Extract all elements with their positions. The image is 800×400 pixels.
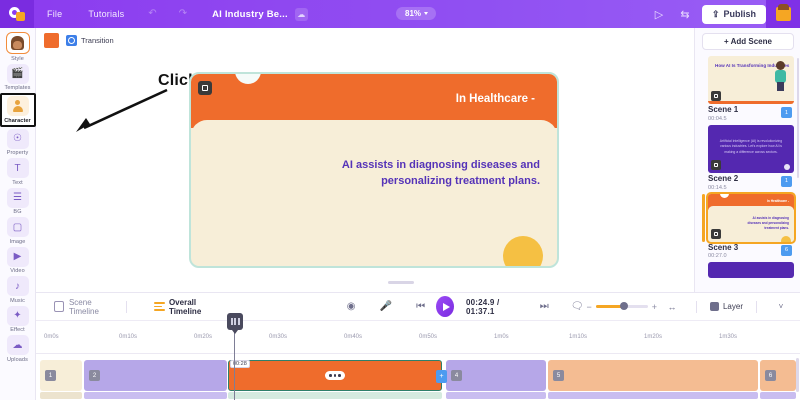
- scene-thumb-text: Artificial Intelligence (AI) is revoluti…: [717, 139, 785, 155]
- slide-canvas[interactable]: In Healthcare - AI assists in diagnosing…: [189, 72, 559, 268]
- audio-waveform: [228, 392, 442, 399]
- top-bar-actions: ▷ ⇆ ⇪ Publish: [646, 0, 800, 28]
- scene-thumb-title: In Healthcare -: [767, 199, 789, 203]
- divider: [696, 301, 697, 313]
- subtitle-icon[interactable]: 🗨: [568, 297, 587, 317]
- timeline-clip-selected[interactable]: 00:28 +: [228, 360, 442, 391]
- avatar[interactable]: [766, 0, 800, 28]
- layer-button[interactable]: Layer: [710, 302, 743, 311]
- slide-notch-decor: [235, 72, 261, 84]
- timeline-right-controls: − + ↔ Layer ˅: [586, 297, 792, 317]
- time-display: 00:24.9 / 01:37.1: [466, 298, 521, 316]
- property-icon: ☉: [7, 129, 29, 149]
- video-icon: ▶: [7, 247, 29, 267]
- play-button[interactable]: [436, 296, 454, 317]
- timeline-zoom-slider[interactable]: − +: [586, 302, 657, 312]
- skip-next-icon[interactable]: ⏭: [535, 297, 554, 317]
- character-icon: [7, 96, 29, 116]
- sidebar-item-label: Video: [10, 268, 24, 274]
- clip-number: 1: [45, 370, 56, 381]
- focus-icon[interactable]: ◉: [342, 297, 361, 317]
- clip-number: 2: [89, 370, 100, 381]
- scene-accent-circle: [781, 236, 791, 242]
- scene-thumb-text: AI assists in diagnosing diseases and pe…: [743, 216, 789, 231]
- slide-body-text: AI assists in diagnosing diseases and pe…: [310, 158, 540, 190]
- zoom-level-label: 81%: [405, 9, 421, 18]
- scene-timeline-icon: [54, 301, 64, 312]
- sidebar-item-label: Music: [10, 298, 25, 304]
- sidebar-item-character[interactable]: Character: [0, 93, 36, 127]
- scene-badge-count: 1: [781, 176, 792, 187]
- add-scene-button[interactable]: + Add Scene: [702, 33, 794, 50]
- microphone-icon[interactable]: 🎤: [377, 297, 396, 317]
- layer-icon: [710, 302, 719, 311]
- sidebar-item-label: Property: [7, 150, 29, 156]
- tab-scene-timeline[interactable]: Scene Timeline: [54, 298, 117, 316]
- sidebar-item-label: Templates: [5, 85, 31, 91]
- audio-waveform: [548, 392, 758, 399]
- tab-overall-timeline[interactable]: Overall Timeline: [154, 298, 224, 316]
- play-icon: [443, 303, 450, 311]
- ruler-tick: 0m50s: [419, 334, 437, 340]
- publish-button[interactable]: ⇪ Publish: [702, 5, 766, 24]
- sidebar-item-uploads[interactable]: ☁ Uploads: [0, 335, 36, 363]
- slide-title: In Healthcare -: [456, 93, 535, 105]
- timeline-clip[interactable]: 6: [760, 360, 796, 391]
- play-preview-icon[interactable]: ▷: [646, 0, 672, 28]
- scene-meta: Scene 1 00:04.5 1: [702, 104, 793, 122]
- overall-timeline-icon: [154, 302, 164, 311]
- sidebar-item-label: Uploads: [7, 357, 28, 363]
- sidebar-item-music[interactable]: ♪ Music: [0, 276, 36, 304]
- left-sidebar: Style 🎬 Templates Character ☉ Property T…: [0, 28, 36, 400]
- scene-duration: 00:27.0: [708, 253, 738, 259]
- skip-previous-icon[interactable]: ⏮: [411, 297, 430, 317]
- slide-accent-circle: [503, 236, 543, 268]
- zoom-out-icon[interactable]: −: [586, 302, 591, 312]
- sidebar-item-label: Text: [12, 180, 23, 186]
- handle-grip: [231, 318, 240, 325]
- ruler-tick: 1m0s: [494, 334, 509, 340]
- scene-card-3[interactable]: In Healthcare - AI assists in diagnosing…: [702, 194, 793, 260]
- sidebar-item-video[interactable]: ▶ Video: [0, 247, 36, 275]
- zoom-slider-knob[interactable]: [620, 302, 628, 310]
- tracks-scrollbar[interactable]: [796, 358, 799, 392]
- chevron-down-icon: [424, 12, 428, 15]
- top-bar: File Tutorials ↶ ↷ AI Industry Be... ☁ 8…: [0, 0, 800, 28]
- music-icon: ♪: [7, 276, 29, 296]
- select-frame-icon[interactable]: [711, 229, 721, 239]
- more-options-icon[interactable]: [325, 371, 345, 380]
- effect-icon: ✦: [7, 306, 29, 326]
- ruler-tick: 0m40s: [344, 334, 362, 340]
- transition-icon: [66, 35, 77, 46]
- publish-label: Publish: [723, 9, 756, 19]
- sidebar-item-effect[interactable]: ✦ Effect: [0, 306, 36, 334]
- ruler-tick: 1m20s: [644, 334, 662, 340]
- audio-waveform: [760, 392, 796, 399]
- chevron-down-icon[interactable]: ˅: [770, 297, 792, 317]
- audio-waveform: [446, 392, 546, 399]
- clip-number: 4: [451, 370, 462, 381]
- scene-card-1[interactable]: How AI Is Transforming Industries Scene …: [702, 56, 793, 122]
- transition-label: Transition: [81, 36, 114, 45]
- avatar-icon: [776, 7, 791, 21]
- scene-meta: Scene 3 00:27.0 6: [702, 242, 793, 260]
- app-root: File Tutorials ↶ ↷ AI Industry Be... ☁ 8…: [0, 0, 800, 400]
- scene-color-swatch: [44, 33, 59, 48]
- transition-bar: Transition: [44, 33, 114, 48]
- sidebar-item-style[interactable]: Style: [0, 32, 36, 62]
- clip-time-badge: 00:28: [230, 360, 250, 368]
- tab-label: Scene Timeline: [69, 298, 117, 316]
- clip-number: 6: [765, 370, 776, 381]
- audio-waveform: [84, 392, 227, 399]
- scene-duration: 00:14.5: [708, 185, 738, 191]
- sidebar-item-label: Image: [10, 239, 26, 245]
- scene-thumbnail-partial[interactable]: [708, 262, 794, 278]
- add-clip-icon[interactable]: +: [436, 370, 447, 383]
- ruler-tick: 0m0s: [44, 334, 59, 340]
- annotation-arrow: [72, 86, 172, 134]
- sidebar-item-label: Effect: [10, 327, 25, 333]
- scenes-panel: + Add Scene How AI Is Transforming Indus…: [694, 28, 800, 292]
- sidebar-item-bg[interactable]: ☰ BG: [0, 188, 36, 216]
- tab-label: Overall Timeline: [169, 298, 224, 316]
- select-frame-icon[interactable]: [711, 91, 721, 101]
- style-avatar-icon: [6, 32, 30, 54]
- timeline-tracks: 1 2 00:28 + 4 5 6: [36, 354, 800, 400]
- sidebar-item-property[interactable]: ☉ Property: [0, 129, 36, 157]
- clip-number: 5: [553, 370, 564, 381]
- sidebar-item-templates[interactable]: 🎬 Templates: [0, 64, 36, 92]
- timeline-clip[interactable]: 5: [548, 360, 758, 391]
- scene-accent-dot: [784, 164, 790, 170]
- undo-icon[interactable]: ↶: [137, 0, 167, 28]
- ruler-tick: 0m20s: [194, 334, 212, 340]
- scene-thumbnail[interactable]: Artificial Intelligence (AI) is revoluti…: [708, 125, 794, 173]
- character-illustration: [774, 61, 787, 91]
- scene-name: Scene 2: [708, 175, 738, 184]
- share-icon[interactable]: ⇆: [672, 0, 698, 28]
- select-frame-icon[interactable]: [198, 81, 212, 95]
- scene-thumbnail[interactable]: In Healthcare - AI assists in diagnosing…: [708, 194, 794, 242]
- layer-label: Layer: [723, 302, 743, 311]
- stage-resize-handle[interactable]: [388, 281, 414, 284]
- scene-name: Scene 1: [708, 106, 738, 115]
- scene-badge-count: 6: [781, 245, 792, 256]
- ruler-tick: 1m30s: [719, 334, 737, 340]
- scene-meta: Scene 2 00:14.5 1: [702, 173, 793, 191]
- scene-thumbnail[interactable]: How AI Is Transforming Industries: [708, 56, 794, 104]
- uploads-icon: ☁: [7, 335, 29, 355]
- timeline-ruler[interactable]: 0m0s 0m10s 0m20s 0m30s 0m40s 0m50s 1m0s …: [36, 321, 800, 354]
- transition-button[interactable]: Transition: [66, 35, 114, 46]
- logo-icon: [9, 7, 26, 22]
- scene-badge-count: 1: [781, 107, 792, 118]
- upload-icon: ⇪: [712, 9, 720, 20]
- divider: [126, 301, 127, 313]
- zoom-slider-track[interactable]: [596, 305, 648, 308]
- divider: [756, 301, 757, 313]
- templates-icon: 🎬: [7, 64, 29, 84]
- cloud-save-icon: ☁: [295, 8, 308, 21]
- timeline-controls: Scene Timeline Overall Timeline ◉ 🎤 ⏮ 00…: [36, 292, 800, 321]
- fit-width-icon[interactable]: ↔: [661, 297, 683, 317]
- sidebar-item-label: Style: [11, 56, 24, 62]
- zoom-level-selector[interactable]: 81%: [396, 7, 436, 20]
- redo-icon[interactable]: ↷: [168, 0, 198, 28]
- text-icon: T: [7, 158, 29, 178]
- scene-accent-bar: [708, 101, 794, 104]
- image-icon: ▢: [7, 217, 29, 237]
- scene-duration: 00:04.5: [708, 116, 738, 122]
- select-frame-icon[interactable]: [711, 160, 721, 170]
- ruler-tick: 1m10s: [569, 334, 587, 340]
- sidebar-item-text[interactable]: T Text: [0, 158, 36, 186]
- playhead-handle-icon[interactable]: [227, 313, 243, 330]
- timeline-clip[interactable]: 1: [40, 360, 82, 391]
- scene-name: Scene 3: [708, 244, 738, 253]
- audio-waveform: [40, 392, 82, 399]
- menu-file[interactable]: File: [34, 0, 75, 28]
- sidebar-item-label: Character: [4, 118, 31, 124]
- app-logo[interactable]: [0, 0, 34, 28]
- scenes-scrollbar[interactable]: [797, 58, 799, 178]
- sidebar-item-image[interactable]: ▢ Image: [0, 217, 36, 245]
- ruler-tick: 0m30s: [269, 334, 287, 340]
- scene-card-2[interactable]: Artificial Intelligence (AI) is revoluti…: [702, 125, 793, 191]
- timeline-clip[interactable]: 4: [446, 360, 546, 391]
- ruler-tick: 0m10s: [119, 334, 137, 340]
- canvas-stage: Transition Click on “Character” In Healt…: [36, 28, 694, 292]
- menu-tutorials[interactable]: Tutorials: [75, 0, 137, 28]
- background-icon: ☰: [7, 188, 29, 208]
- sidebar-item-label: BG: [13, 209, 21, 215]
- timeline-clip[interactable]: 2: [84, 360, 227, 391]
- zoom-in-icon[interactable]: +: [652, 302, 657, 312]
- document-title[interactable]: AI Industry Be...: [212, 9, 288, 20]
